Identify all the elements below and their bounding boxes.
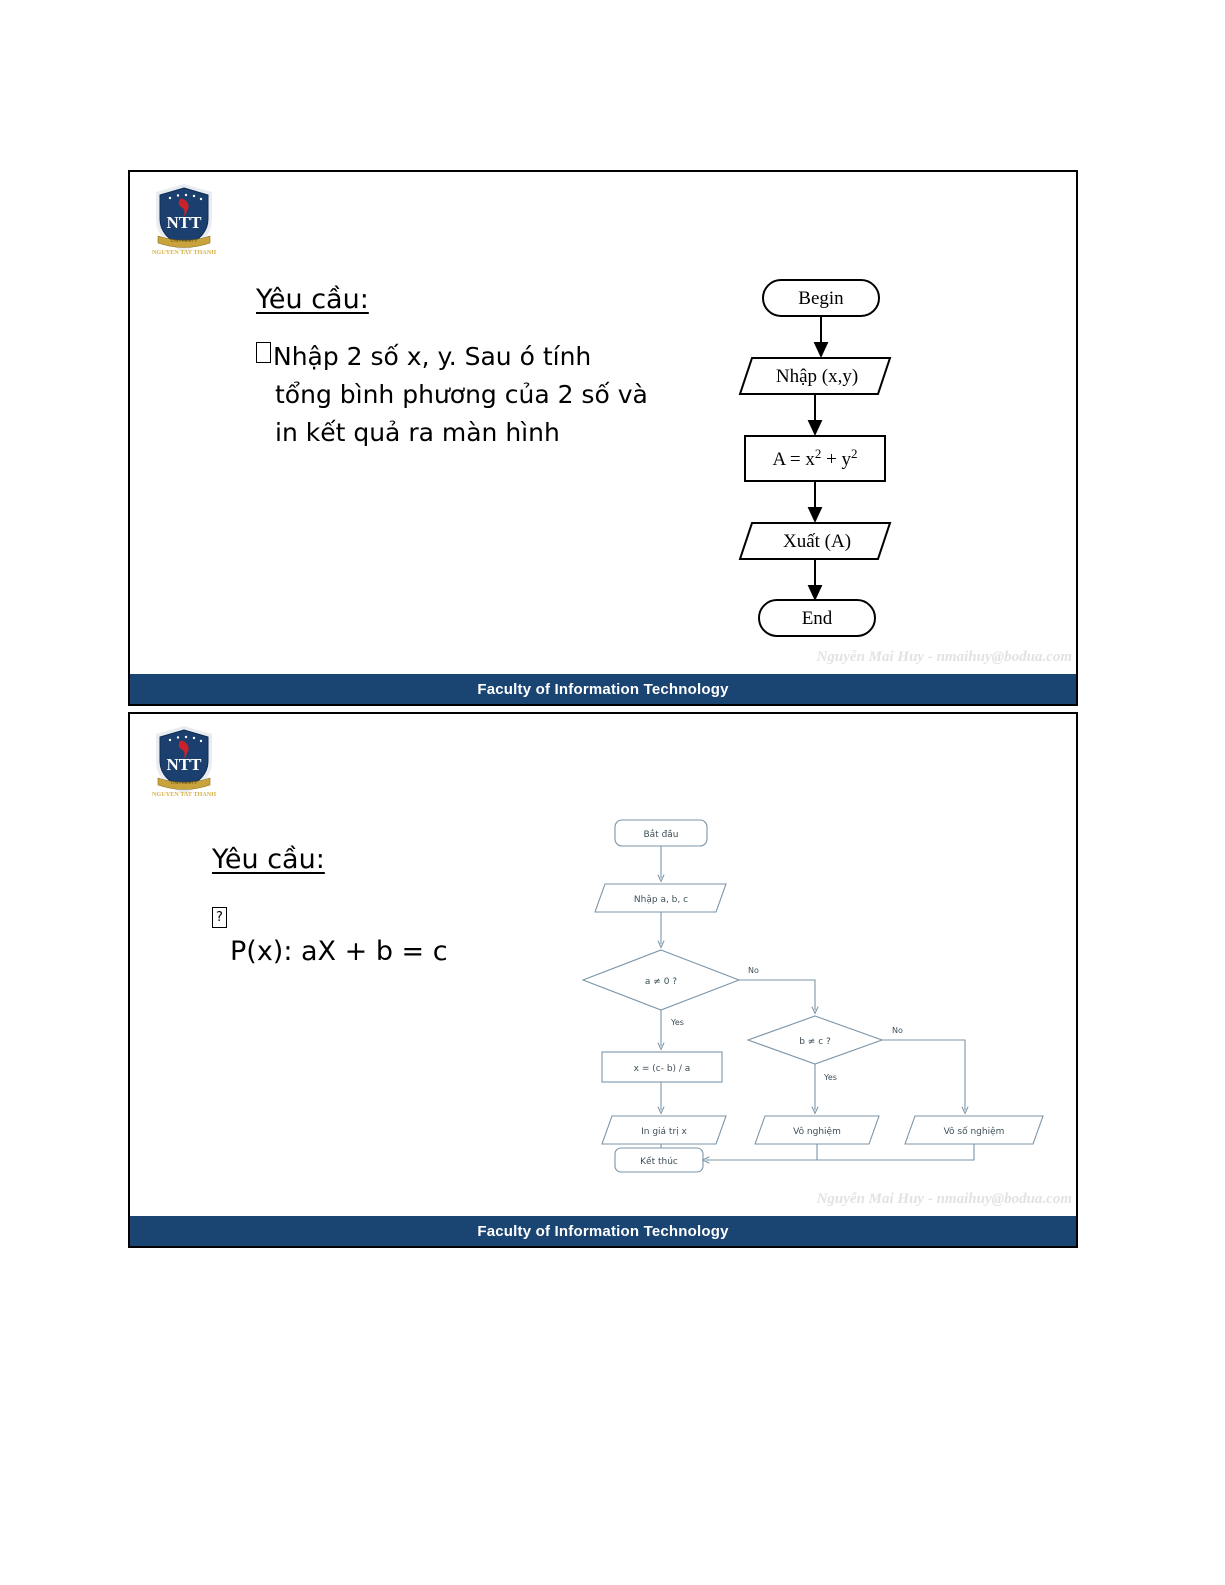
node-decision-b-label: b ≠ c ?: [799, 1037, 831, 1047]
ntt-shield-logo: NTT UNIVERSITY NGUYEN TAT THANH: [148, 180, 220, 258]
edge-label-no-b: No: [892, 1026, 903, 1035]
flowchart-branching: Bắt đầu Nhập a, b, c a ≠ 0 ? Yes No: [510, 814, 1070, 1174]
svg-text:UNIVERSITY: UNIVERSITY: [171, 238, 199, 243]
slide-title: Cấu trúc phân nhánh: [240, 735, 685, 781]
bullet-line-3: in kết quả ra màn hình: [275, 414, 560, 452]
requirement-bullet-list: ?: [212, 896, 229, 934]
flowchart-sequential: Begin Nhập (x,y) A = x2 + y2 Xuất (A): [715, 272, 1065, 642]
node-start-label: Bắt đầu: [643, 829, 678, 840]
node-output-label: Xuất (A): [783, 531, 851, 552]
slide-footer: Faculty of Information Technology: [130, 674, 1076, 704]
svg-text:NTT: NTT: [167, 755, 203, 774]
edge-label-yes-a: Yes: [670, 1018, 684, 1027]
requirement-bullet-list: Nhập 2 số x, y. Sau ó tính tổng bình phư…: [256, 338, 676, 452]
requirement-heading: Yêu cầu:: [212, 844, 325, 875]
node-input-label: Nhập (x,y): [776, 366, 858, 387]
bullet-line-1: Nhập 2 số x, y. Sau ó tính: [273, 342, 591, 371]
edge-infsol-end: [706, 1144, 974, 1160]
formula-text: P(x): aX + b = c: [230, 936, 448, 967]
node-decision-a-label: a ≠ 0 ?: [645, 977, 677, 987]
node-calc-label: x = (c- b) / a: [634, 1064, 691, 1074]
logo-banner-text: NGUYEN TAT THANH: [152, 791, 216, 798]
slide-body: Yêu cầu: Nhập 2 số x, y. Sau ó tính tổng…: [130, 262, 1076, 672]
watermark: Nguyễn Mai Huy - nmaihuy@bodua.com: [817, 1191, 1072, 1208]
bullet-line-2: tổng bình phương của 2 số và: [275, 376, 648, 414]
node-end-label: End: [802, 608, 833, 629]
node-input-label: Nhập a, b, c: [634, 895, 688, 905]
node-no-solution-label: Vô nghiệm: [793, 1126, 841, 1137]
node-infinite-solutions-label: Vô số nghiệm: [944, 1126, 1005, 1137]
edge-deca-decb: [739, 980, 815, 1010]
logo-banner-text: NGUYEN TAT THANH: [152, 249, 216, 256]
slide-header: NTT UNIVERSITY NGUYEN TAT THANH Cấu trúc…: [130, 172, 1076, 262]
node-end-label: Kết thúc: [640, 1156, 678, 1167]
svg-text:UNIVERSITY: UNIVERSITY: [171, 780, 199, 785]
bullet-marker-icon: [256, 342, 271, 363]
edge-decb-infsol: [882, 1040, 965, 1110]
node-print-x-label: In giá trị x: [641, 1127, 687, 1137]
slide-footer: Faculty of Information Technology: [130, 1216, 1076, 1246]
svg-text:NTT: NTT: [167, 213, 203, 232]
slide-cau-truc-phan-nhanh: NTT UNIVERSITY NGUYEN TAT THANH Cấu trúc…: [128, 712, 1078, 1248]
slide-title: Cấu trúc tuần tự: [240, 193, 587, 239]
requirement-heading: Yêu cầu:: [256, 284, 369, 315]
edge-label-no-a: No: [748, 966, 759, 975]
slide-header: NTT UNIVERSITY NGUYEN TAT THANH Cấu trúc…: [130, 714, 1076, 804]
bullet-marker-icon: ?: [212, 907, 227, 928]
node-begin-label: Begin: [798, 288, 844, 309]
slide-body: Yêu cầu: ? P(x): aX + b = c Bắt đầu: [130, 804, 1076, 1214]
edge-nosol-end: [706, 1144, 817, 1160]
slide-cau-truc-tuan-tu: NTT UNIVERSITY NGUYEN TAT THANH Cấu trúc…: [128, 170, 1078, 706]
watermark: Nguyễn Mai Huy - nmaihuy@bodua.com: [817, 649, 1072, 666]
edge-label-yes-b: Yes: [823, 1073, 837, 1082]
ntt-shield-logo: NTT UNIVERSITY NGUYEN TAT THANH: [148, 722, 220, 800]
